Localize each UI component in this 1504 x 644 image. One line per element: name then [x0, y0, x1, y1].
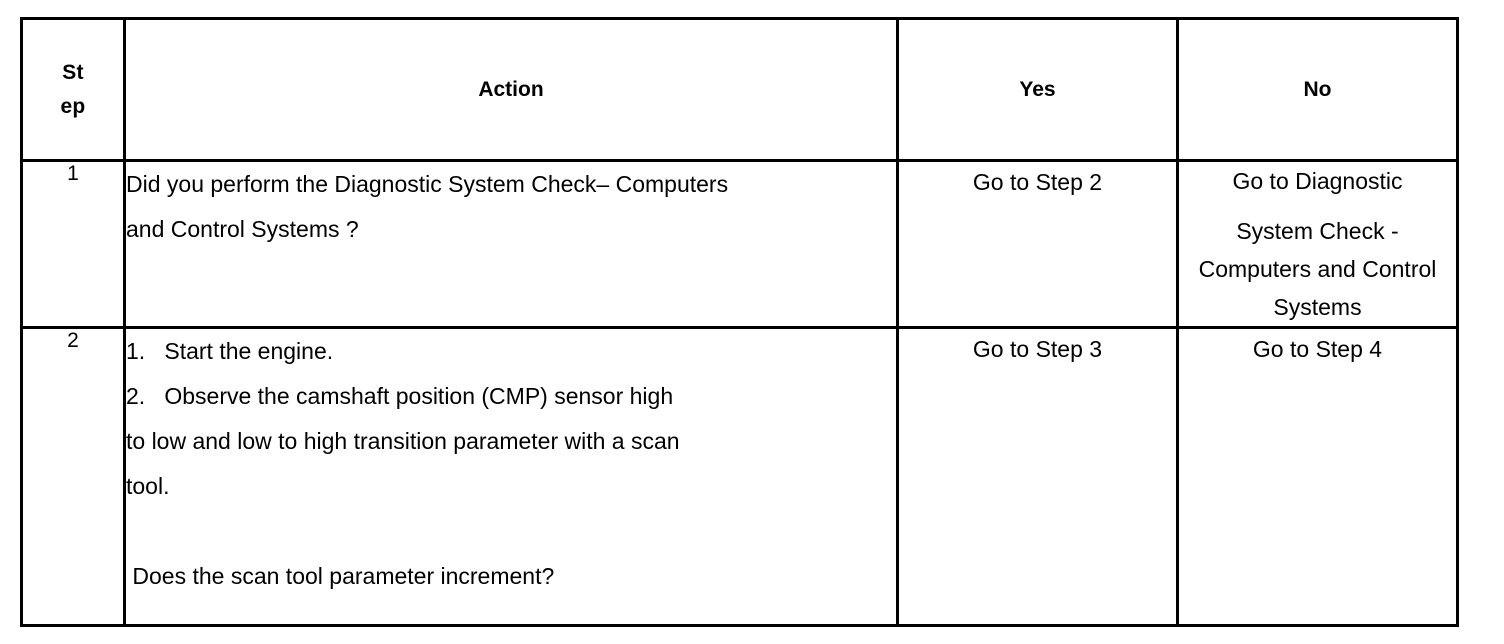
table-header-row: St ep Action Yes No: [22, 19, 1458, 161]
step-number-cell: 1: [22, 161, 125, 328]
action-text-spacer: [126, 509, 896, 554]
action-text-line: Did you perform the Diagnostic System Ch…: [126, 162, 896, 207]
column-header-yes: Yes: [898, 19, 1178, 161]
page-root: St ep Action Yes No 1 Did you perform th…: [0, 0, 1504, 644]
no-answer-spacer: [1179, 200, 1456, 212]
diagnostic-steps-table: St ep Action Yes No 1 Did you perform th…: [20, 17, 1459, 627]
action-text-line: and Control Systems ?: [126, 207, 896, 252]
action-cell: Did you perform the Diagnostic System Ch…: [125, 161, 898, 328]
action-question-line: Does the scan tool parameter increment?: [126, 554, 896, 599]
column-header-action: Action: [125, 19, 898, 161]
no-answer-line: Computers and: [1199, 256, 1356, 282]
no-answer-line: Go to Diagnostic: [1232, 168, 1402, 194]
table-row: 1 Did you perform the Diagnostic System …: [22, 161, 1458, 328]
action-list-item: 2. Observe the camshaft position (CMP) s…: [126, 374, 896, 419]
no-answer-cell: Go to Step 4: [1178, 328, 1458, 626]
action-text-line: to low and low to high transition parame…: [126, 419, 896, 464]
yes-answer-cell: Go to Step 2: [898, 161, 1178, 328]
yes-answer-cell: Go to Step 3: [898, 328, 1178, 626]
column-header-step-line-2: ep: [23, 90, 123, 124]
step-number-cell: 2: [22, 328, 125, 626]
no-answer-cell: Go to Diagnostic System Check - Computer…: [1178, 161, 1458, 328]
column-header-no: No: [1178, 19, 1458, 161]
action-cell: 1. Start the engine. 2. Observe the cams…: [125, 328, 898, 626]
column-header-step: St ep: [22, 19, 125, 161]
no-answer-line: System Check -: [1236, 218, 1398, 244]
table-row: 2 1. Start the engine. 2. Observe the ca…: [22, 328, 1458, 626]
action-list-item: 1. Start the engine.: [126, 329, 896, 374]
action-text-line: tool.: [126, 464, 896, 509]
column-header-step-line-1: St: [23, 56, 123, 90]
